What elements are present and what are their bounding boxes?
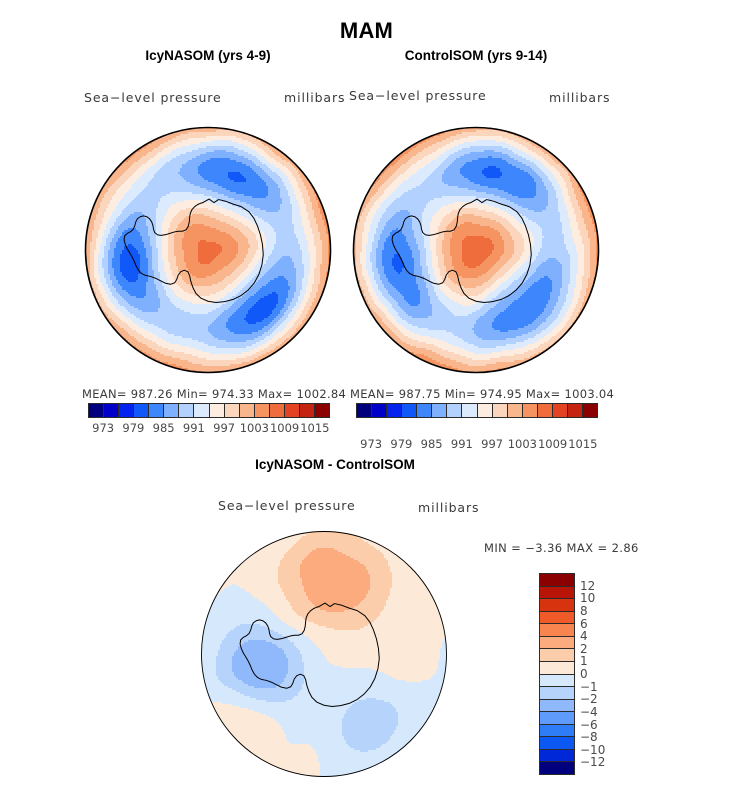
colorbar-band bbox=[372, 404, 387, 417]
colorbar-band bbox=[540, 649, 574, 662]
colorbar-tick-label: 991 bbox=[183, 421, 205, 435]
colorbar-band bbox=[164, 404, 179, 417]
colorbar-band bbox=[540, 587, 574, 600]
colorbar-tick-label: 1015 bbox=[300, 421, 329, 435]
colorbar-band bbox=[194, 404, 209, 417]
colorbar-band bbox=[540, 662, 574, 675]
colorbar-band bbox=[540, 687, 574, 700]
colorbar-band bbox=[357, 404, 372, 417]
colorbar-ticks-right: 973979985991997100310091015 bbox=[356, 437, 598, 453]
colorbar-band bbox=[432, 404, 447, 417]
colorbar-band bbox=[538, 404, 553, 417]
colorbar-band bbox=[225, 404, 240, 417]
colorbar-ticks-difference: 1210864210−1−2−4−6−8−10−12 bbox=[580, 573, 640, 775]
colorbar-tick-label: 973 bbox=[360, 437, 382, 451]
stats-right: MEAN= 987.75 Min= 974.95 Max= 1003.04 bbox=[350, 387, 614, 401]
colorbar-tick-label: −12 bbox=[580, 755, 605, 769]
panel-title-difference: IcyNASOM - ControlSOM bbox=[195, 457, 475, 472]
colorbar-band bbox=[240, 404, 255, 417]
main-title: MAM bbox=[0, 18, 733, 44]
colorbar-band bbox=[149, 404, 164, 417]
colorbar-tick-label: 997 bbox=[481, 437, 503, 451]
colorbar-band bbox=[104, 404, 119, 417]
colorbar-band bbox=[553, 404, 568, 417]
units-label-left: millibars bbox=[284, 90, 345, 105]
colorbar-tick-label: 997 bbox=[213, 421, 235, 435]
colorbar-tick-label: 979 bbox=[122, 421, 144, 435]
colorbar-band bbox=[255, 404, 270, 417]
colorbar-band bbox=[462, 404, 477, 417]
colorbar-band bbox=[540, 624, 574, 637]
variable-label-left: Sea−level pressure bbox=[84, 90, 222, 105]
colorbar-left bbox=[88, 403, 330, 418]
colorbar-band bbox=[447, 404, 462, 417]
colorbar-band bbox=[540, 612, 574, 625]
map-controlsom bbox=[352, 126, 600, 374]
colorbar-band bbox=[583, 404, 597, 417]
colorbar-band bbox=[540, 725, 574, 738]
colorbar-band bbox=[540, 599, 574, 612]
colorbar-tick-label: 1003 bbox=[240, 421, 269, 435]
colorbar-band bbox=[285, 404, 300, 417]
colorbar-band bbox=[387, 404, 402, 417]
colorbar-tick-label: 985 bbox=[153, 421, 175, 435]
units-label-right: millibars bbox=[549, 90, 610, 105]
colorbar-tick-label: 985 bbox=[421, 437, 443, 451]
colorbar-ticks-left: 973979985991997100310091015 bbox=[88, 421, 330, 437]
panel-title-left: IcyNASOM (yrs 4-9) bbox=[84, 48, 332, 63]
panel-title-right: ControlSOM (yrs 9-14) bbox=[352, 48, 600, 63]
colorbar-band bbox=[568, 404, 583, 417]
colorbar-band bbox=[315, 404, 329, 417]
colorbar-band bbox=[493, 404, 508, 417]
colorbar-band bbox=[300, 404, 315, 417]
colorbar-tick-label: 973 bbox=[92, 421, 114, 435]
colorbar-band bbox=[540, 737, 574, 750]
colorbar-right bbox=[356, 403, 598, 418]
colorbar-band bbox=[402, 404, 417, 417]
minmax-label-difference: MIN = −3.36 MAX = 2.86 bbox=[484, 541, 639, 555]
colorbar-band bbox=[540, 762, 574, 774]
colorbar-band bbox=[119, 404, 134, 417]
map-difference bbox=[200, 530, 448, 778]
units-label-difference: millibars bbox=[418, 500, 479, 515]
colorbar-band bbox=[179, 404, 194, 417]
colorbar-difference bbox=[539, 573, 575, 775]
colorbar-band bbox=[210, 404, 225, 417]
colorbar-band bbox=[540, 700, 574, 713]
colorbar-tick-label: 1009 bbox=[270, 421, 299, 435]
colorbar-band bbox=[134, 404, 149, 417]
variable-label-difference: Sea−level pressure bbox=[218, 498, 356, 513]
stats-left: MEAN= 987.26 Min= 974.33 Max= 1002.84 bbox=[82, 387, 346, 401]
colorbar-tick-label: 1009 bbox=[538, 437, 567, 451]
colorbar-band bbox=[417, 404, 432, 417]
variable-label-right: Sea−level pressure bbox=[349, 88, 487, 103]
colorbar-band bbox=[508, 404, 523, 417]
colorbar-tick-label: 1003 bbox=[508, 437, 537, 451]
colorbar-band bbox=[540, 675, 574, 688]
colorbar-band bbox=[540, 574, 574, 587]
colorbar-tick-label: 1015 bbox=[568, 437, 597, 451]
colorbar-band bbox=[523, 404, 538, 417]
colorbar-band bbox=[540, 712, 574, 725]
colorbar-band bbox=[478, 404, 493, 417]
colorbar-band bbox=[89, 404, 104, 417]
colorbar-band bbox=[270, 404, 285, 417]
colorbar-tick-label: 979 bbox=[390, 437, 412, 451]
colorbar-band bbox=[540, 637, 574, 650]
map-icynasom bbox=[84, 126, 332, 374]
colorbar-band bbox=[540, 750, 574, 763]
colorbar-tick-label: 991 bbox=[451, 437, 473, 451]
